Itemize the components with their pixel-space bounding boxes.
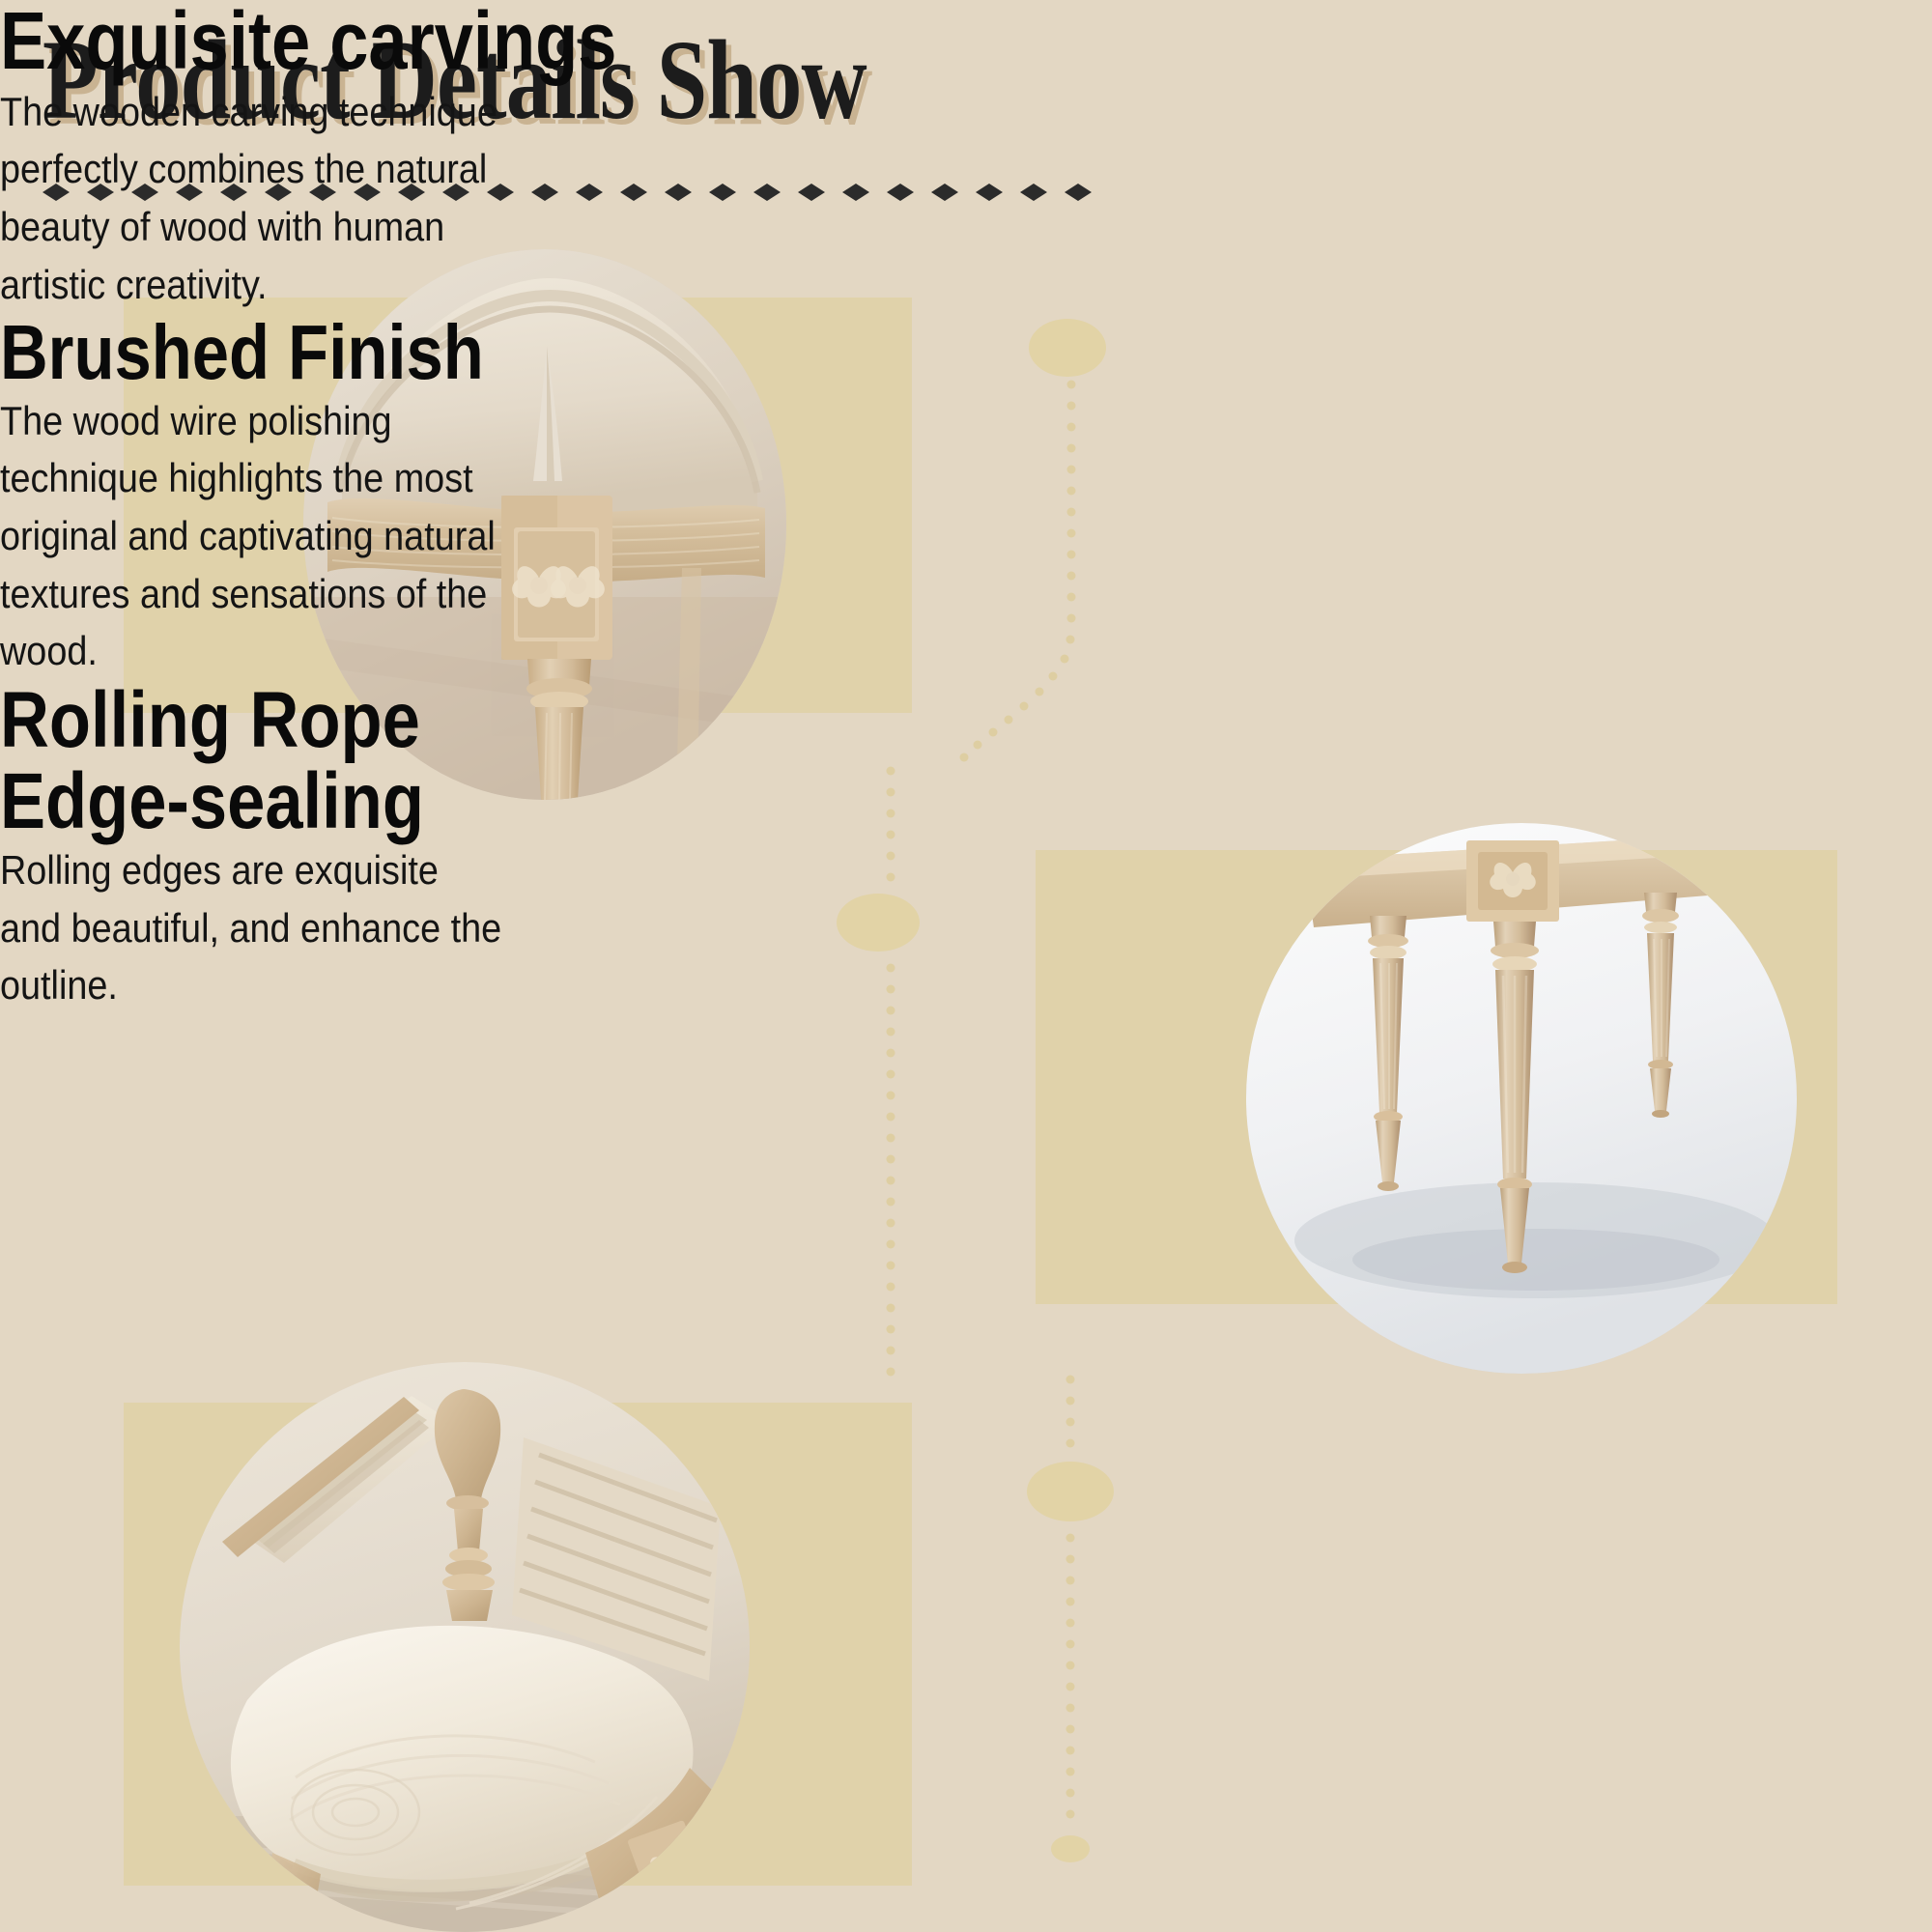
image-backdrop-rect (124, 1403, 912, 1886)
infographic-root: Product Details Show (0, 0, 1932, 1932)
connector-trail-middle (850, 763, 927, 1381)
diamond-glyph (798, 184, 825, 201)
diamond-glyph (931, 184, 958, 201)
body-exquisite-carvings: The wooden carving technique perfectly c… (0, 83, 609, 314)
diamond-glyph (842, 184, 869, 201)
diamond-glyph (1020, 184, 1047, 201)
connector-trail-upper (956, 377, 1169, 792)
image-circle-seat (180, 1362, 750, 1932)
diamond-glyph (1065, 184, 1092, 201)
heading-rolling-rope: Rolling Rope Edge-sealing (0, 680, 731, 841)
diamond-glyph (753, 184, 781, 201)
heading-exquisite-carvings: Exquisite carvings (0, 0, 789, 83)
diamond-glyph (976, 184, 1003, 201)
heading-brushed-finish: Brushed Finish (0, 313, 648, 392)
body-brushed-finish: The wood wire polishing technique highli… (0, 392, 574, 680)
diamond-glyph (887, 184, 914, 201)
bullet-exquisite-carvings (1029, 319, 1106, 377)
connector-trail-lower (1043, 1372, 1121, 1874)
body-rolling-rope: Rolling edges are exquisite and beautifu… (0, 841, 591, 1014)
diamond-glyph (665, 184, 692, 201)
image-circle-legs (1246, 823, 1797, 1374)
image-backdrop-rect (1036, 850, 1837, 1304)
diamond-glyph (709, 184, 736, 201)
diamond-glyph (620, 184, 647, 201)
